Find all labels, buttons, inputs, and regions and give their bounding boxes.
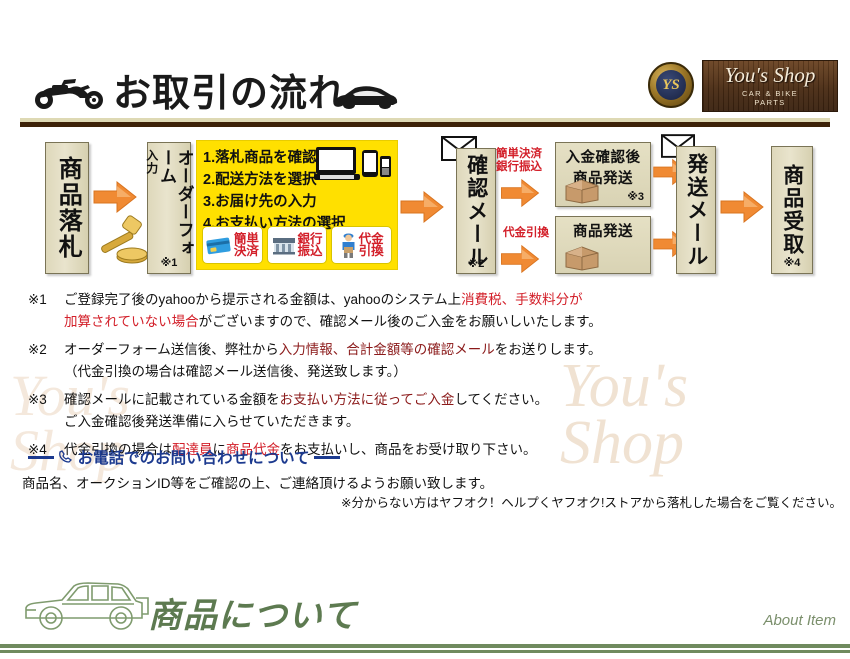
ys-emblem-icon: YS — [648, 62, 694, 108]
flow-step-order-form-sub: 入力 — [146, 149, 158, 175]
phone-inquiry-line1: 商品名、オークションID等をご確認の上、ご連絡頂けるようお願い致します。 — [22, 472, 493, 492]
payment-method-badges: 簡単 決済 銀行 振込 — [202, 226, 392, 264]
flow-ship-after-payment: 入金確認後 商品発送 ※3 — [555, 142, 651, 207]
note-1-key: ※1 — [28, 292, 47, 308]
parcel-box-icon — [564, 178, 600, 204]
page-title: お取引の流れ — [113, 62, 347, 117]
phone-inquiry-heading-text: お電話でのお問い合わせについて — [78, 450, 310, 467]
footer-title: 商品について — [148, 588, 357, 637]
payment-badge-bank: 銀行 振込 — [267, 226, 328, 264]
flow-step-confirm-mail-label: 確認メール — [465, 154, 486, 269]
footer-subtitle: About Item — [763, 612, 836, 629]
payment-badge-kantan-text: 簡単 決済 — [234, 233, 259, 258]
laptop-phone-icon — [314, 145, 392, 187]
flow-arrow-1 — [93, 180, 137, 214]
flow-ship-after-payment-mark: ※3 — [627, 190, 644, 203]
branch-label-cod: 代金引換 — [503, 227, 549, 240]
flow-arrow-branch-lower — [499, 244, 541, 274]
transaction-flow-diagram: 商品落札 入力 オーダーフォーム ※1 1.落札商品を確認 2.配送方法を選択 … — [0, 132, 850, 290]
flow-step-bid-won: 商品落札 — [45, 142, 89, 274]
form-step-1: 1.落札商品を確認 — [203, 146, 317, 167]
heading-dash-left — [28, 456, 54, 459]
note-3-key: ※3 — [28, 392, 47, 408]
order-form-steps-panel: 1.落札商品を確認 2.配送方法を選択 3.お届け先の入力 4.お支払い方法の選… — [196, 140, 398, 270]
note-1-line1: ご登録完了後のyahooから提示される金額は、yahooのシステム上消費税、手数… — [64, 292, 583, 308]
car-icon — [333, 84, 399, 110]
delivery-person-icon — [340, 232, 357, 258]
footer-section: 商品について About Item — [0, 564, 850, 659]
flow-ship-after-payment-line1: 入金確認後 — [556, 146, 650, 167]
logo-sub-line2: PARTS — [754, 98, 785, 107]
flow-step-confirm-mail-mark: ※2 — [457, 257, 495, 270]
flow-arrow-2 — [400, 190, 444, 224]
phone-icon — [58, 450, 73, 465]
footer-divider — [0, 644, 850, 653]
flow-arrow-branch-upper — [499, 178, 541, 208]
logo-sub-line1: CAR & BIKE — [742, 89, 798, 98]
flow-ship-cod-line1: 商品発送 — [556, 220, 650, 241]
page-header: お取引の流れ YS You's Shop CAR & BIKE PARTS — [0, 58, 850, 120]
header-divider — [20, 118, 830, 127]
flow-step-shipping-mail: 発送メール — [676, 146, 716, 274]
gavel-icon — [96, 214, 148, 264]
flow-step-confirm-mail: 確認メール ※2 — [456, 148, 496, 274]
form-step-3: 3.お届け先の入力 — [203, 190, 317, 211]
flow-step-order-form-mark: ※1 — [148, 256, 190, 269]
credit-card-icon — [206, 236, 232, 255]
flow-step-bid-won-label: 商品落札 — [55, 156, 79, 260]
payment-badge-cod: 代金 引換 — [331, 226, 392, 264]
note-2-line1: オーダーフォーム送信後、弊社から入力情報、合計金額等の確認メールをお送りします。 — [64, 342, 601, 358]
payment-badge-kantan: 簡単 決済 — [202, 226, 263, 264]
note-1-line2: 加算されていない場合がございますので、確認メール後のご入金をお願いしいたします。 — [64, 314, 602, 330]
flow-step-receive-item-mark: ※4 — [772, 256, 812, 269]
ys-emblem-text: YS — [656, 70, 686, 100]
phone-inquiry-section: お電話でのお問い合わせについて 商品名、オークションID等をご確認の上、ご連絡頂… — [0, 446, 850, 506]
note-2-line2: （代金引換の場合は確認メール送信後、発送致します。） — [64, 364, 407, 380]
flow-arrow-5 — [720, 190, 764, 224]
logo-name: You's Shop — [725, 65, 816, 86]
logo-wood-board: You's Shop CAR & BIKE PARTS — [702, 60, 838, 112]
parcel-box-icon — [564, 245, 600, 271]
payment-badge-bank-text: 銀行 振込 — [298, 233, 323, 258]
phone-inquiry-line2: ※分からない方はヤフオク！ヘルプくヤフオク!ストアから落札した場合をご覧ください… — [341, 492, 842, 511]
note-3-line2: ご入金確認後発送準備に入らせていただきます。 — [64, 414, 359, 430]
shop-logo: YS You's Shop CAR & BIKE PARTS — [638, 60, 838, 112]
payment-badge-cod-text: 代金 引換 — [359, 233, 384, 258]
heading-dash-right — [314, 456, 340, 459]
logo-subtitle: CAR & BIKE PARTS — [742, 89, 798, 108]
flow-step-receive-item: 商品受取 ※4 — [771, 146, 813, 274]
form-step-2: 2.配送方法を選択 — [203, 168, 317, 189]
note-3-line1: 確認メールに記載されている金額をお支払い方法に従ってご入金してください。 — [64, 392, 548, 408]
phone-inquiry-heading: お電話でのお問い合わせについて — [28, 446, 340, 468]
bank-icon — [272, 236, 296, 255]
motorcycle-icon — [30, 76, 108, 110]
suv-outline-icon — [22, 576, 154, 638]
flow-step-shipping-mail-label: 発送メール — [685, 153, 706, 268]
note-2-key: ※2 — [28, 342, 47, 358]
flow-step-receive-item-label: 商品受取 — [781, 164, 802, 256]
flow-ship-cod: 商品発送 — [555, 216, 651, 274]
flow-step-order-form-label: オーダーフォーム — [158, 149, 193, 273]
flow-step-order-form: 入力 オーダーフォーム ※1 — [147, 142, 191, 274]
notes-section: ※1 ご登録完了後のyahooから提示される金額は、yahooのシステム上消費税… — [0, 292, 850, 452]
branch-label-prepaid: 簡単決済 銀行振込 — [496, 148, 542, 174]
